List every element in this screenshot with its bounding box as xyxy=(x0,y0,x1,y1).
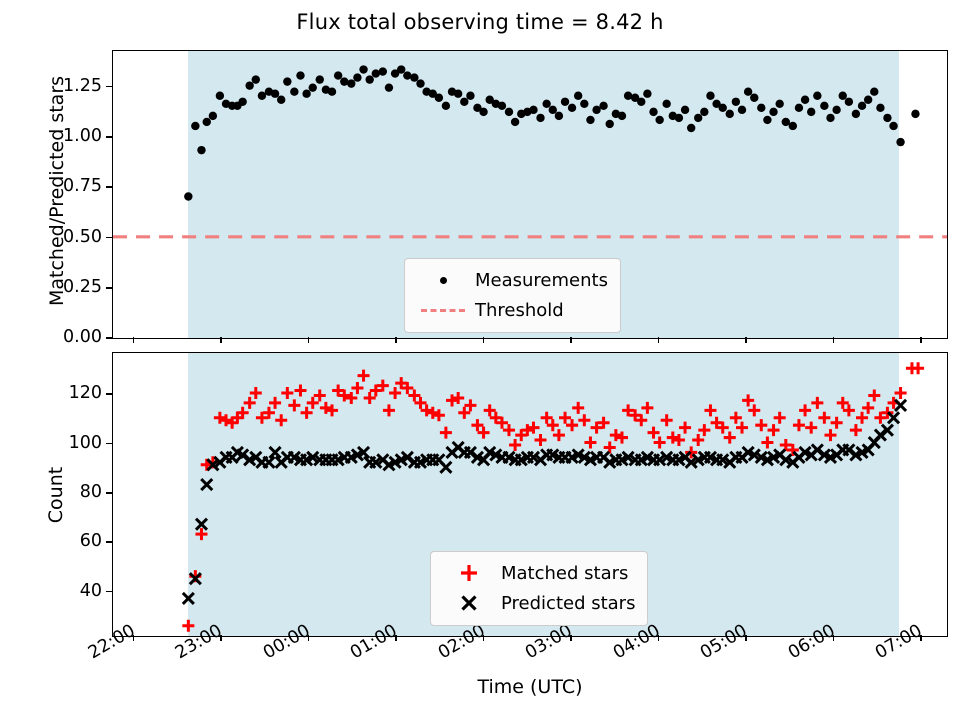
legend-label-matched-stars: Matched stars xyxy=(495,563,628,584)
y-tick-label: 0.75 xyxy=(32,176,102,196)
x-tick-mark xyxy=(220,337,222,343)
legend-item-matched-stars: Matched stars xyxy=(443,558,635,588)
legend-label-measurements: Measurements xyxy=(469,270,608,291)
y-tick-mark xyxy=(106,237,112,239)
y-tick-mark xyxy=(106,337,112,339)
bottom-panel-legend: Matched stars Predicted stars xyxy=(430,551,648,626)
x-tick-mark xyxy=(133,337,135,343)
y-tick-label: 0.50 xyxy=(32,227,102,247)
x-tick-mark xyxy=(920,337,922,343)
measurement-dot-icon xyxy=(417,277,469,284)
x-tick-mark xyxy=(658,337,660,343)
y-tick-label: 40 xyxy=(32,581,102,601)
y-tick-label: 120 xyxy=(32,383,102,403)
y-tick-mark xyxy=(106,136,112,138)
cross-marker-icon xyxy=(443,592,495,614)
x-tick-mark xyxy=(483,337,485,343)
y-tick-mark xyxy=(106,186,112,188)
plus-marker-icon xyxy=(443,562,495,584)
legend-item-measurements: Measurements xyxy=(417,265,608,295)
legend-label-predicted-stars: Predicted stars xyxy=(495,593,635,614)
y-tick-mark xyxy=(106,287,112,289)
threshold-dashed-line-icon xyxy=(417,309,469,312)
chart-title: Flux total observing time = 8.42 h xyxy=(0,10,960,34)
y-tick-mark xyxy=(106,443,112,445)
x-axis-label: Time (UTC) xyxy=(112,676,948,698)
top-panel-legend: Measurements Threshold xyxy=(404,258,621,333)
y-tick-mark xyxy=(106,492,112,494)
y-tick-mark xyxy=(106,541,112,543)
y-tick-label: 100 xyxy=(32,433,102,453)
figure: Flux total observing time = 8.42 h Match… xyxy=(0,0,960,720)
x-tick-mark xyxy=(570,337,572,343)
legend-label-threshold: Threshold xyxy=(469,300,564,321)
x-tick-mark xyxy=(833,337,835,343)
y-tick-mark xyxy=(106,591,112,593)
x-tick-mark xyxy=(745,337,747,343)
legend-item-predicted-stars: Predicted stars xyxy=(443,588,635,618)
y-tick-label: 60 xyxy=(32,531,102,551)
legend-item-threshold: Threshold xyxy=(417,295,608,325)
y-tick-label: 1.25 xyxy=(32,76,102,96)
y-tick-label: 1.00 xyxy=(32,126,102,146)
y-tick-label: 0.25 xyxy=(32,277,102,297)
y-tick-label: 0.00 xyxy=(32,327,102,347)
y-tick-mark xyxy=(106,86,112,88)
measurements-series xyxy=(184,65,920,200)
x-tick-mark xyxy=(308,337,310,343)
y-tick-label: 80 xyxy=(32,482,102,502)
x-tick-mark xyxy=(395,337,397,343)
y-tick-mark xyxy=(106,393,112,395)
